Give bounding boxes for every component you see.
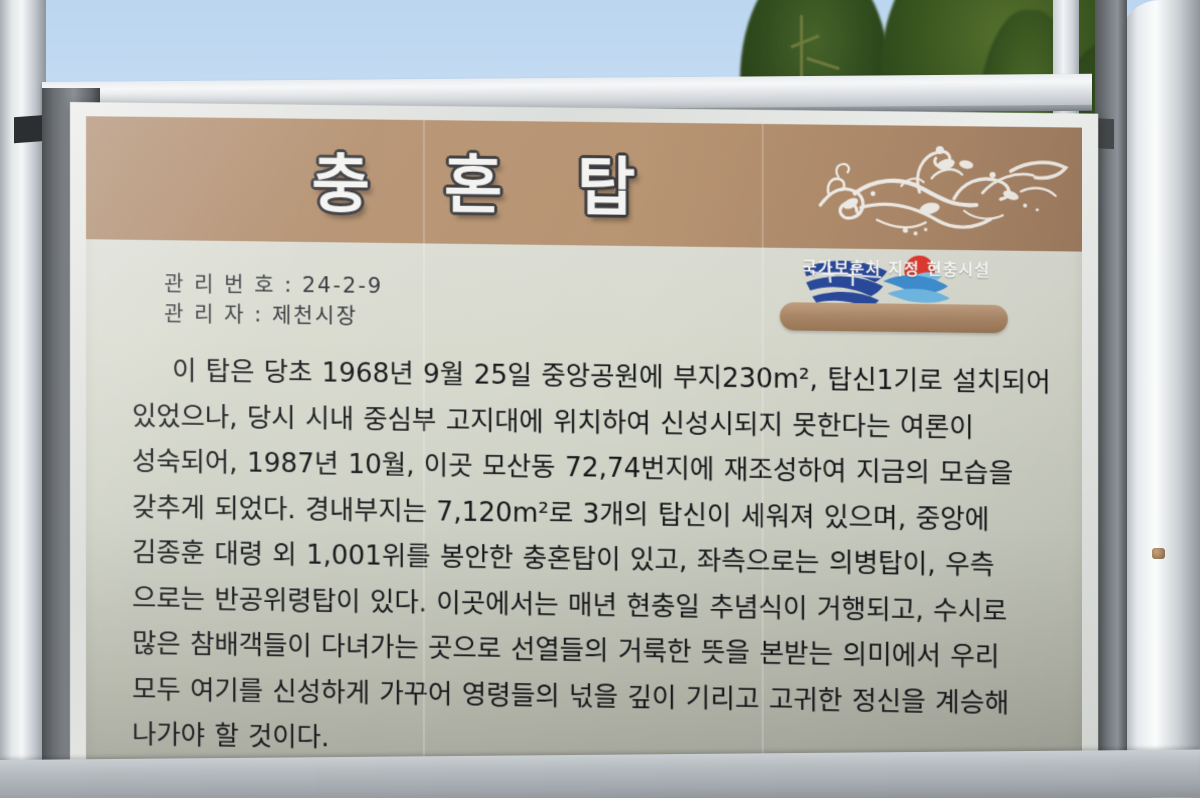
info-row: 관 리 번 호 : 24-2-9 관 리 자 : 제천시장 — [86, 239, 1082, 356]
sign-body-text: 이 탑은 당초 1968년 9월 25일 중앙공원에 부지230m², 탑신1기… — [86, 343, 1082, 773]
sign-frame: 충 혼 탑 — [70, 102, 1098, 791]
designation-caption: 국가보훈처 지정 현충시설 — [780, 256, 1013, 281]
admin-number-line: 관 리 번 호 : 24-2-9 — [164, 268, 383, 301]
designation-emblem: 국가보훈처 지정 현충시설 — [780, 252, 1013, 352]
sign-panel: 충 혼 탑 — [86, 116, 1082, 777]
admin-info: 관 리 번 호 : 24-2-9 관 리 자 : 제천시장 — [164, 268, 383, 331]
photo-scene: 충 혼 탑 — [0, 0, 1200, 798]
designation-pill — [780, 302, 1008, 333]
floral-scroll-ornament — [812, 133, 1076, 247]
mounting-bolt — [1152, 548, 1165, 559]
support-post-right-outer — [1120, 0, 1200, 798]
title-banner: 충 혼 탑 — [86, 116, 1082, 251]
admin-manager-line: 관 리 자 : 제천시장 — [164, 298, 383, 331]
